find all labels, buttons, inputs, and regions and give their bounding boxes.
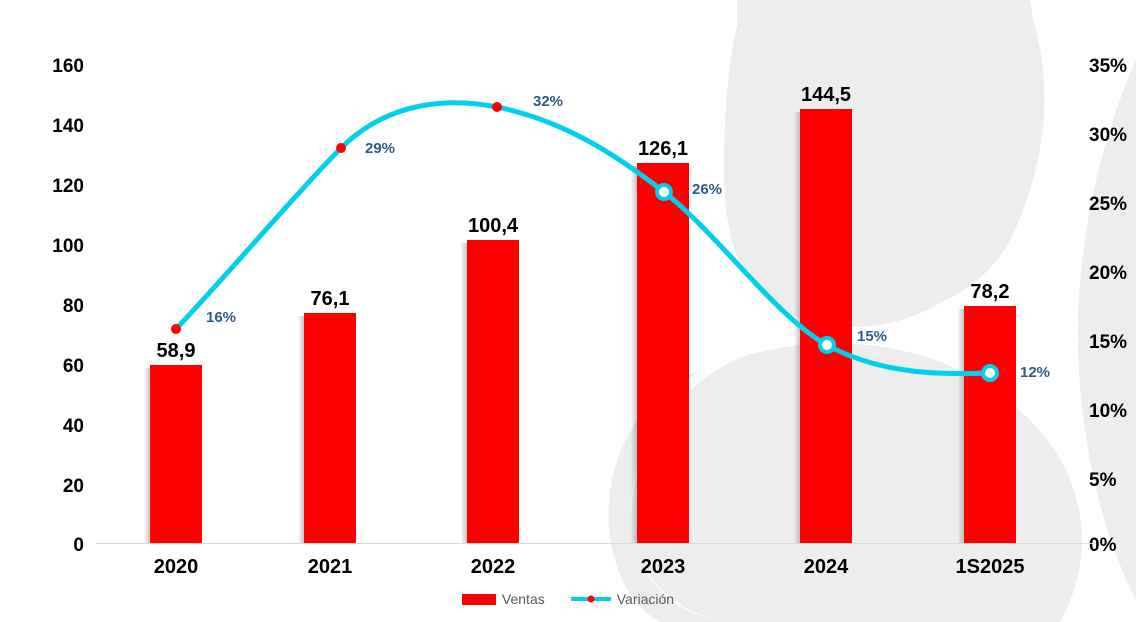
legend-item-variacion[interactable]: Variación <box>571 592 674 606</box>
left-axis-tick-120: 120 <box>20 177 84 196</box>
right-axis-tick-5: 5% <box>1089 471 1136 490</box>
legend-label-ventas: Ventas <box>502 592 545 606</box>
bar-2020[interactable] <box>150 365 202 543</box>
right-axis-tick-10: 10% <box>1089 402 1136 421</box>
bar-2021[interactable] <box>304 313 356 543</box>
variacion-marker-2021 <box>336 143 346 153</box>
left-axis-tick-80: 80 <box>20 297 84 316</box>
right-axis-tick-35: 35% <box>1089 57 1136 76</box>
legend-item-ventas[interactable]: Ventas <box>462 592 545 606</box>
chart-legend: Ventas Variación <box>0 592 1136 606</box>
x-axis-label-1S2025: 1S2025 <box>930 556 1050 579</box>
bar-value-2024: 144,5 <box>766 84 886 107</box>
left-axis-tick-60: 60 <box>20 357 84 376</box>
pct-label-2023: 26% <box>692 181 722 198</box>
right-axis-tick-15: 15% <box>1089 333 1136 352</box>
bar-value-2022: 100,4 <box>433 215 553 238</box>
x-axis-label-2020: 2020 <box>116 556 236 579</box>
bar-2024[interactable] <box>800 109 852 543</box>
bar-value-2020: 58,9 <box>116 340 236 363</box>
x-axis-baseline <box>96 543 1096 544</box>
left-axis-tick-100: 100 <box>20 237 84 256</box>
variacion-marker-2020 <box>171 324 181 334</box>
right-axis-tick-20: 20% <box>1089 264 1136 283</box>
bar-2022[interactable] <box>467 240 519 543</box>
pct-label-2024: 15% <box>857 328 887 345</box>
x-axis-label-2024: 2024 <box>766 556 886 579</box>
left-axis-tick-140: 140 <box>20 117 84 136</box>
variacion-marker-2022 <box>492 102 502 112</box>
right-axis-tick-0: 0% <box>1089 536 1136 555</box>
bar-value-2021: 76,1 <box>270 288 390 311</box>
left-axis-tick-20: 20 <box>20 477 84 496</box>
left-axis-tick-160: 160 <box>20 57 84 76</box>
left-axis-tick-0: 0 <box>20 536 84 555</box>
pct-label-2021: 29% <box>365 140 395 157</box>
bar-2023[interactable] <box>637 163 689 543</box>
left-axis-tick-40: 40 <box>20 417 84 436</box>
pct-label-1S2025: 12% <box>1020 364 1050 381</box>
x-axis-label-2022: 2022 <box>433 556 553 579</box>
plot-area: 160 140 120 100 80 60 40 20 0 35% 30% 25… <box>0 0 1136 622</box>
pct-label-2022: 32% <box>533 93 563 110</box>
pct-label-2020: 16% <box>206 309 236 326</box>
bar-value-1S2025: 78,2 <box>930 281 1050 304</box>
bar-1S2025[interactable] <box>964 306 1016 543</box>
legend-bar-swatch-icon <box>462 594 496 605</box>
x-axis-label-2021: 2021 <box>270 556 390 579</box>
bar-value-2023: 126,1 <box>603 138 723 161</box>
chart-container: 160 140 120 100 80 60 40 20 0 35% 30% 25… <box>0 0 1136 622</box>
right-axis-tick-30: 30% <box>1089 126 1136 145</box>
legend-line-dot-icon <box>571 593 611 605</box>
legend-label-variacion: Variación <box>617 592 674 606</box>
right-axis-tick-25: 25% <box>1089 195 1136 214</box>
x-axis-label-2023: 2023 <box>603 556 723 579</box>
